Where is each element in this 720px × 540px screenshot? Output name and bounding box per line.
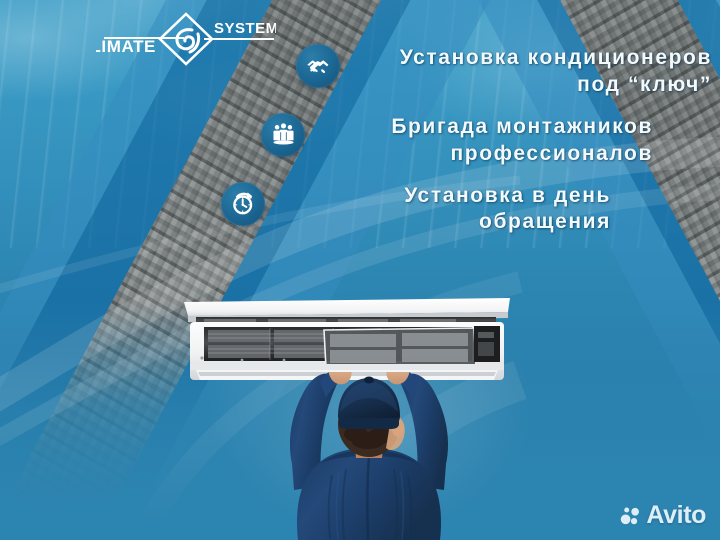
avito-dots-icon [619,505,641,527]
feature-label: Установка кондиционеров под “ключ” [356,44,712,99]
avito-watermark: Avito [619,503,706,528]
feature-label: Установка в день обращения [281,182,611,237]
feature-item-turnkey-installation: Установка кондиционеров под “ключ” [0,44,720,99]
technician-figure [228,372,510,540]
logo-text-systems: SYSTEMS [214,20,276,37]
handshake-icon [296,44,340,88]
avito-label: Avito [646,503,706,528]
fast-clock-icon [221,182,265,226]
people-group-icon [261,113,305,157]
promo-banner: CLIMATE SYSTEMS Установка кондиционеров … [0,0,720,540]
feature-list: Установка кондиционеров под “ключ” [0,44,720,250]
feature-item-professional-team: Бригада монтажников профессионалов [0,113,720,168]
feature-label: Бригада монтажников профессионалов [321,113,653,168]
feature-item-same-day-installation: Установка в день обращения [0,182,720,237]
